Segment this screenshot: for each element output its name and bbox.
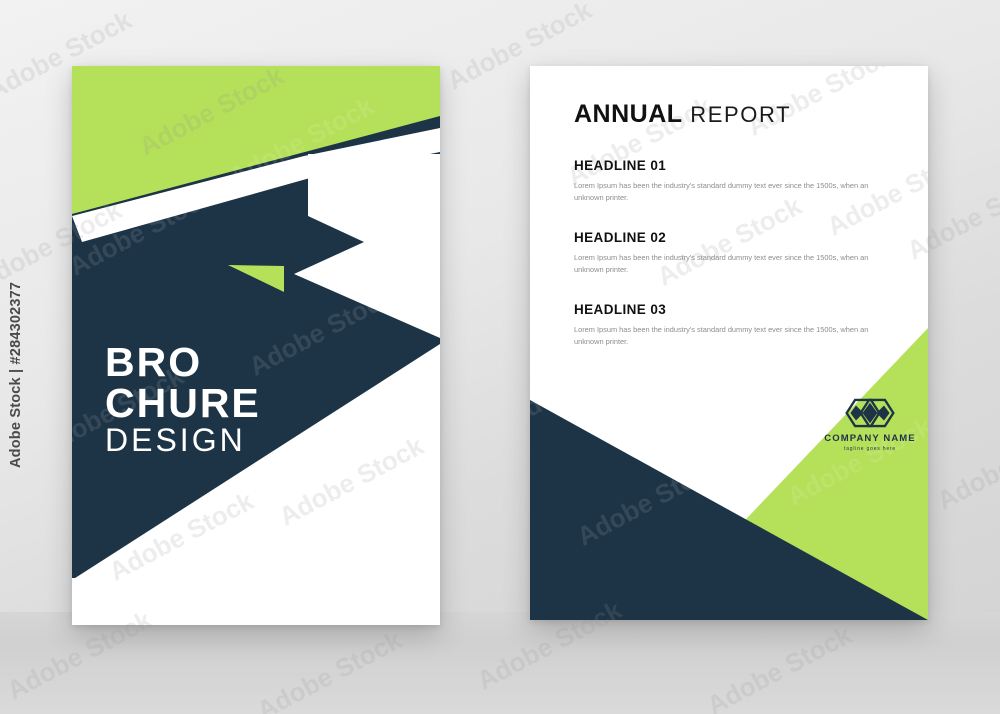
report-header: ANNUAL REPORT [574, 100, 791, 129]
logo-brand-name: COMPANY NAME [800, 433, 928, 444]
adobe-stock-id-watermark: Adobe Stock | #284302377 [8, 282, 24, 468]
headline-sections: HEADLINE 01 Lorem Ipsum has been the ind… [574, 158, 884, 348]
section-heading: HEADLINE 01 [574, 158, 884, 173]
backdrop-floor [0, 612, 1000, 714]
hexagon-interlock-logo-icon [842, 396, 898, 430]
brochure-mockup-canvas: BRO CHURE DESIGN Adobe Stock Adobe Stock… [0, 0, 1000, 714]
left-page-cover[interactable]: BRO CHURE DESIGN Adobe Stock Adobe Stock… [72, 66, 440, 625]
right-page-logo-lockup[interactable]: COMPANY NAME tagline goes here [800, 396, 928, 452]
watermark-tile: Adobe Stock [932, 415, 1000, 517]
cover-title-line3: DESIGN [105, 425, 261, 457]
report-header-light: REPORT [690, 102, 791, 127]
right-page-inner[interactable]: ANNUAL REPORT HEADLINE 01 Lorem Ipsum ha… [530, 66, 928, 620]
logo-left-wedge [850, 406, 863, 421]
section-item: HEADLINE 02 Lorem Ipsum has been the ind… [574, 230, 884, 276]
logo-tagline: tagline goes here [800, 446, 928, 452]
cover-title-line2: CHURE [105, 383, 261, 424]
cover-title: BRO CHURE DESIGN [105, 342, 261, 457]
logo-right-wedge [877, 406, 890, 421]
section-body: Lorem Ipsum has been the industry's stan… [574, 324, 884, 348]
left-page-logo-lockup[interactable]: COMPANY NAME tagline goes here [402, 602, 440, 625]
cover-title-line1: BRO [105, 342, 261, 383]
section-body: Lorem Ipsum has been the industry's stan… [574, 252, 884, 276]
section-heading: HEADLINE 03 [574, 302, 884, 317]
section-heading: HEADLINE 02 [574, 230, 884, 245]
section-body: Lorem Ipsum has been the industry's stan… [574, 180, 884, 204]
section-item: HEADLINE 01 Lorem Ipsum has been the ind… [574, 158, 884, 204]
report-header-strong: ANNUAL [574, 100, 683, 128]
section-item: HEADLINE 03 Lorem Ipsum has been the ind… [574, 302, 884, 348]
